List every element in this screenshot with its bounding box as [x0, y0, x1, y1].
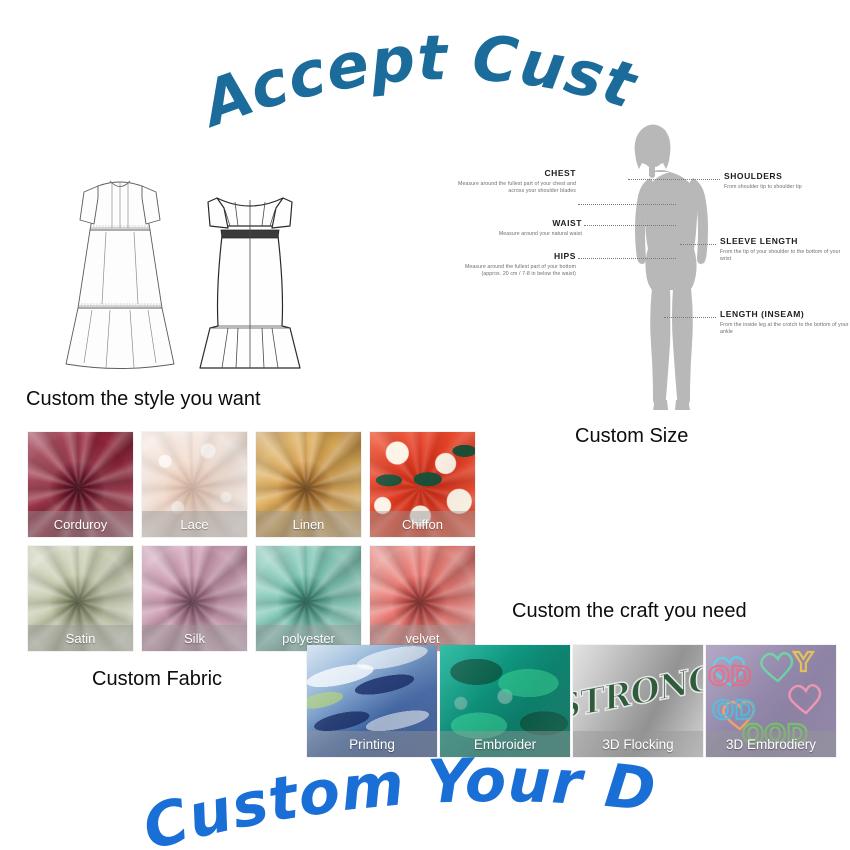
measurement-chest: CHEST Measure around the fullest part of…	[452, 168, 576, 195]
leader-line-hips	[578, 258, 676, 259]
fabric-swatch-silk[interactable]: Silk	[142, 546, 247, 651]
fabric-swatch-polyester[interactable]: polyester	[256, 546, 361, 651]
leader-line-chest	[578, 204, 676, 205]
measurement-length-inseam: LENGTH (INSEAM) From the inside leg at t…	[720, 309, 850, 336]
fabric-label-satin: Satin	[28, 630, 133, 648]
craft-swatch-embroider[interactable]: Embroider	[440, 645, 570, 757]
fabric-label-silk: Silk	[142, 630, 247, 648]
craft-swatch-3d-embrodiery[interactable]: OD OD OOD Y 3D Embrodiery	[706, 645, 836, 757]
fabric-swatch-satin[interactable]: Satin	[28, 546, 133, 651]
leader-line-waist	[584, 225, 676, 226]
top-banner: Accept Custom	[0, 18, 850, 113]
fabric-swatch-corduroy[interactable]: Corduroy	[28, 432, 133, 537]
craft-label-3d-flocking: 3D Flocking	[573, 736, 703, 754]
dress-sketch-off-shoulder-mermaid	[192, 168, 308, 373]
fabric-swatch-linen[interactable]: Linen	[256, 432, 361, 537]
measurement-sleeve-length: SLEEVE LENGTH From the tip of your shoul…	[720, 236, 846, 263]
fabric-swatch-velvet[interactable]: velvet	[370, 546, 475, 651]
craft-swatch-printing[interactable]: Printing	[307, 645, 437, 757]
fabric-label-lace: Lace	[142, 516, 247, 534]
measurement-hips: HIPS Measure around the fullest part of …	[452, 251, 576, 278]
fabric-section-heading: Custom Fabric	[92, 668, 222, 691]
dress-sketch-short-sleeve-tiered-maxi	[62, 168, 178, 373]
measurement-hips-title: HIPS	[452, 251, 576, 262]
measurement-length-inseam-desc: From the inside leg at the crotch to the…	[720, 322, 850, 336]
measurement-sleeve-length-title: SLEEVE LENGTH	[720, 236, 846, 247]
fabric-swatch-lace[interactable]: Lace	[142, 432, 247, 537]
measurement-chest-desc: Measure around the fullest part of your …	[452, 181, 576, 195]
size-section-heading: Custom Size	[575, 425, 688, 448]
measurement-waist: WAIST Measure around your natural waist	[452, 218, 582, 238]
bottom-banner: Custom Your Design	[0, 742, 850, 842]
fabric-swatch-chiffon[interactable]: Chiffon	[370, 432, 475, 537]
measurement-waist-desc: Measure around your natural waist	[452, 231, 582, 238]
craft-label-printing: Printing	[307, 736, 437, 754]
measurement-sleeve-length-desc: From the tip of your shoulder to the bot…	[720, 249, 846, 263]
style-section-heading: Custom the style you want	[26, 388, 261, 411]
fabric-label-corduroy: Corduroy	[28, 516, 133, 534]
measurement-hips-desc: Measure around the fullest part of your …	[452, 264, 576, 278]
measurement-length-inseam-title: LENGTH (INSEAM)	[720, 309, 850, 320]
craft-label-embroider: Embroider	[440, 736, 570, 754]
leader-line-inseam	[664, 317, 716, 318]
measurement-shoulders: SHOULDERS From shoulder tip to shoulder …	[724, 171, 842, 191]
measurement-shoulders-title: SHOULDERS	[724, 171, 842, 182]
leader-line-shoulders	[628, 179, 720, 180]
measurement-shoulders-desc: From shoulder tip to shoulder tip	[724, 184, 842, 191]
fabric-label-chiffon: Chiffon	[370, 516, 475, 534]
craft-section-heading: Custom the craft you need	[512, 600, 747, 623]
measurement-chest-title: CHEST	[452, 168, 576, 179]
craft-swatch-3d-flocking[interactable]: STRONG 3D Flocking	[573, 645, 703, 757]
leader-line-sleeve	[680, 244, 716, 245]
craft-label-3d-embrodiery: 3D Embrodiery	[706, 736, 836, 754]
measurement-waist-title: WAIST	[452, 218, 582, 229]
fabric-label-linen: Linen	[256, 516, 361, 534]
size-chart: CHEST Measure around the fullest part of…	[452, 118, 850, 413]
